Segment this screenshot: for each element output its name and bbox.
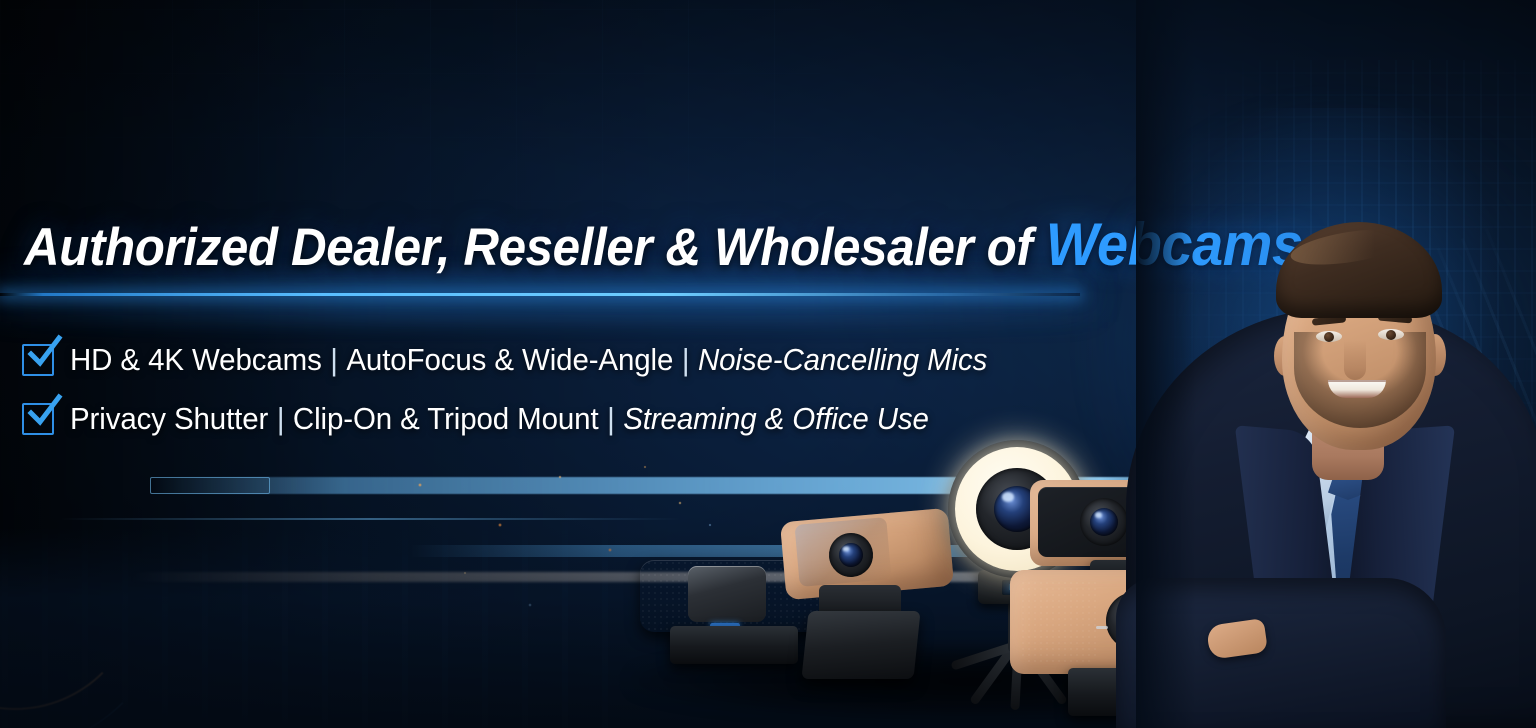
divider-glow-haze: [0, 270, 1120, 322]
microphone-grille-left: [1020, 580, 1098, 662]
businessman-photo: [1136, 0, 1536, 728]
feature-segment: Clip-On & Tripod Mount: [293, 401, 599, 436]
person-edge-fade: [1136, 0, 1196, 728]
feature-separator: |: [673, 342, 698, 377]
checkbox-checked-icon: [22, 403, 54, 435]
feature-separator: |: [322, 342, 347, 377]
eye-right: [1378, 329, 1404, 340]
page-title: Authorized Dealer, Reseller & Wholesaler…: [24, 213, 1303, 276]
smile: [1328, 380, 1386, 398]
feature-segment: Privacy Shutter: [70, 401, 268, 436]
feature-segment: HD & 4K Webcams: [70, 342, 322, 377]
feature-segment: AutoFocus & Wide-Angle: [346, 342, 673, 377]
feature-separator: |: [268, 401, 293, 436]
lens-glass: [1090, 508, 1118, 536]
webcam-mount-foot: [801, 611, 920, 679]
camera-lens-icon: [1080, 498, 1128, 546]
product-angled-mount-webcam: [775, 515, 955, 680]
promotional-banner: Authorized Dealer, Reseller & Wholesaler…: [0, 0, 1536, 728]
light-streak-outline: [150, 477, 270, 494]
nose: [1344, 340, 1366, 380]
mic-indicator: [1096, 626, 1108, 629]
eye-left: [1316, 331, 1342, 342]
privacy-shutter: [688, 566, 766, 622]
lens-glass: [838, 542, 864, 568]
headline-divider-line: [0, 293, 1080, 296]
feature-segment: Noise-Cancelling Mics: [698, 342, 987, 377]
feature-row: HD & 4K Webcams|AutoFocus & Wide-Angle|N…: [22, 334, 1036, 386]
feature-text: HD & 4K Webcams|AutoFocus & Wide-Angle|N…: [70, 342, 987, 378]
headline-lead-text: Authorized Dealer, Reseller & Wholesaler…: [24, 218, 1046, 277]
checkbox-checked-icon: [22, 344, 54, 376]
